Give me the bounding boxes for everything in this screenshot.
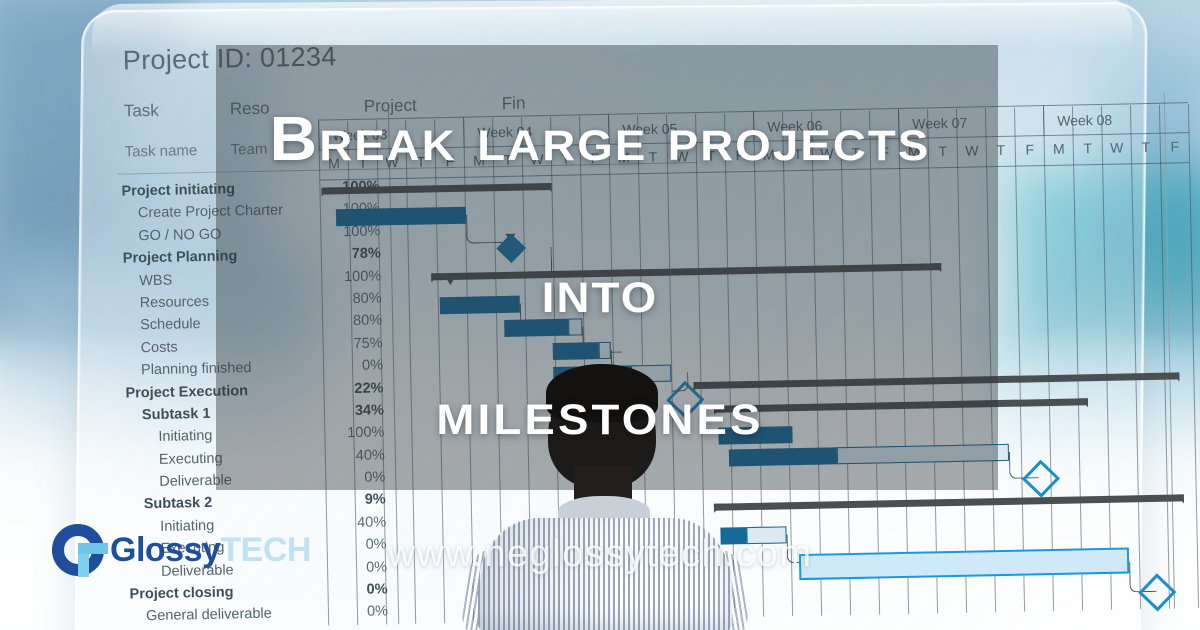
task-name: Executing [159,450,223,467]
headline-line-1: Break large projects [0,104,1200,175]
task-name: Costs [140,339,177,356]
task-name: GO / NO GO [138,226,221,244]
logo-word-primary: Glossy [110,531,220,569]
logo-wordmark: GlossyTECH [110,531,311,570]
headline-line-3: milestones [0,378,1200,449]
logo-word-secondary: TECH [220,531,311,569]
g-circle-logo-icon [52,524,104,576]
poster-canvas: Project ID: 01234 Task Reso Project Fin … [0,0,1200,630]
logo-crossbar [78,543,108,554]
brand-logo: GlossyTECH [52,522,311,578]
task-name: General deliverable [146,606,272,625]
headline-line-2: into [0,256,1200,327]
task-name: Subtask 2 [144,495,213,512]
task-name: Project closing [129,584,233,602]
summary-bar-subtask-2 [714,494,1184,510]
